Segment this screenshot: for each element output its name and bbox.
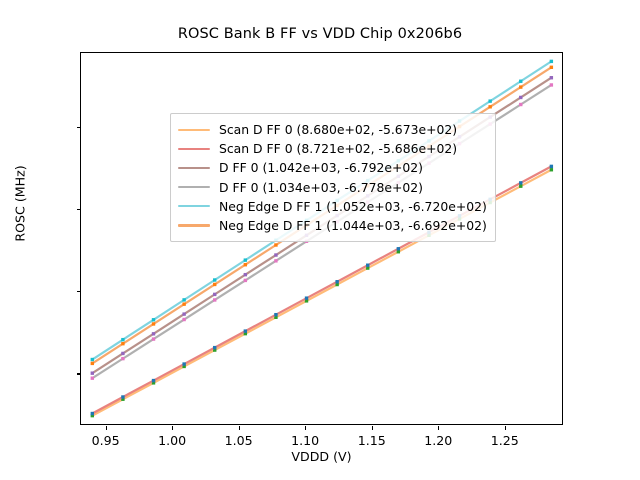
data-point-marker bbox=[182, 318, 185, 321]
x-tick-mark bbox=[172, 426, 173, 430]
data-point-marker bbox=[213, 278, 216, 281]
x-axis-label: VDDD (V) bbox=[80, 449, 563, 464]
data-point-marker bbox=[244, 279, 247, 282]
data-point-marker bbox=[397, 247, 400, 250]
x-tick-mark bbox=[438, 426, 439, 430]
x-tick-mark bbox=[305, 426, 306, 430]
data-point-marker bbox=[121, 338, 124, 341]
data-point-marker bbox=[91, 362, 94, 365]
data-point-marker bbox=[550, 168, 553, 171]
data-point-marker bbox=[550, 60, 553, 63]
data-point-marker bbox=[213, 293, 216, 296]
x-tick-label: 1.00 bbox=[137, 433, 207, 448]
data-point-marker bbox=[519, 96, 522, 99]
data-point-marker bbox=[335, 280, 338, 283]
data-point-marker bbox=[274, 313, 277, 316]
legend-color-swatch bbox=[178, 205, 210, 207]
data-point-marker bbox=[488, 99, 491, 102]
data-point-marker bbox=[213, 346, 216, 349]
data-point-marker bbox=[519, 85, 522, 88]
x-tick-label: 1.20 bbox=[403, 433, 473, 448]
y-tick-mark bbox=[77, 209, 81, 210]
data-point-marker bbox=[91, 376, 94, 379]
data-point-marker bbox=[305, 296, 308, 299]
data-point-marker bbox=[152, 337, 155, 340]
data-point-marker bbox=[519, 103, 522, 106]
legend-color-swatch bbox=[178, 167, 210, 169]
legend-item-2[interactable]: D FF 0 (1.042e+03, -6.792e+02) bbox=[178, 158, 487, 177]
legend-item-1[interactable]: Scan D FF 0 (8.721e+02, -5.686e+02) bbox=[178, 139, 487, 158]
data-point-marker bbox=[91, 371, 94, 374]
data-point-marker bbox=[121, 395, 124, 398]
legend-label: Scan D FF 0 (8.680e+02, -5.673e+02) bbox=[219, 122, 457, 137]
data-point-marker bbox=[274, 253, 277, 256]
chart-title: ROSC Bank B FF vs VDD Chip 0x206b6 bbox=[0, 26, 640, 42]
data-point-marker bbox=[213, 283, 216, 286]
legend-label: Neg Edge D FF 1 (1.052e+03, -6.720e+02) bbox=[219, 199, 487, 214]
x-tick-mark bbox=[106, 426, 107, 430]
data-point-marker bbox=[519, 181, 522, 184]
data-point-marker bbox=[152, 332, 155, 335]
data-point-marker bbox=[121, 357, 124, 360]
data-point-marker bbox=[152, 379, 155, 382]
data-point-marker bbox=[213, 298, 216, 301]
chart-legend: Scan D FF 0 (8.680e+02, -5.673e+02)Scan … bbox=[170, 113, 496, 242]
x-tick-mark bbox=[372, 426, 373, 430]
x-tick-label: 1.05 bbox=[204, 433, 274, 448]
data-point-marker bbox=[182, 298, 185, 301]
y-tick-mark bbox=[77, 127, 81, 128]
legend-label: Neg Edge D FF 1 (1.044e+03, -6.692e+02) bbox=[219, 218, 487, 233]
data-point-marker bbox=[91, 412, 94, 415]
figure-canvas: ROSC Bank B FF vs VDD Chip 0x206b6 ROSC … bbox=[0, 0, 640, 480]
data-point-marker bbox=[274, 243, 277, 246]
data-point-marker bbox=[121, 352, 124, 355]
data-point-marker bbox=[366, 264, 369, 267]
data-point-marker bbox=[182, 362, 185, 365]
data-point-marker bbox=[550, 165, 553, 168]
x-tick-mark bbox=[505, 426, 506, 430]
data-point-marker bbox=[488, 105, 491, 108]
data-point-marker bbox=[550, 66, 553, 69]
y-tick-mark bbox=[77, 291, 81, 292]
data-point-marker bbox=[152, 322, 155, 325]
legend-color-swatch bbox=[178, 224, 210, 226]
data-point-marker bbox=[550, 83, 553, 86]
data-point-marker bbox=[152, 318, 155, 321]
x-tick-label: 1.10 bbox=[270, 433, 340, 448]
data-point-marker bbox=[91, 358, 94, 361]
y-tick-mark bbox=[77, 373, 81, 374]
data-point-marker bbox=[274, 259, 277, 262]
legend-item-3[interactable]: D FF 0 (1.034e+03, -6.778e+02) bbox=[178, 178, 487, 197]
legend-color-swatch bbox=[178, 186, 210, 188]
data-point-marker bbox=[244, 329, 247, 332]
data-point-marker bbox=[519, 80, 522, 83]
data-point-marker bbox=[550, 76, 553, 79]
data-point-marker bbox=[121, 342, 124, 345]
y-axis-label: ROSC (MHz) bbox=[13, 84, 28, 324]
data-point-marker bbox=[244, 273, 247, 276]
legend-item-5[interactable]: Neg Edge D FF 1 (1.044e+03, -6.692e+02) bbox=[178, 216, 487, 235]
legend-label: D FF 0 (1.042e+03, -6.792e+02) bbox=[219, 160, 423, 175]
data-point-marker bbox=[182, 312, 185, 315]
data-point-marker bbox=[519, 184, 522, 187]
data-point-marker bbox=[244, 258, 247, 261]
x-tick-label: 1.15 bbox=[337, 433, 407, 448]
x-tick-label: 0.95 bbox=[71, 433, 141, 448]
legend-item-0[interactable]: Scan D FF 0 (8.680e+02, -5.673e+02) bbox=[178, 120, 487, 139]
data-point-marker bbox=[244, 263, 247, 266]
plot-area: 3004005006000.951.001.051.101.151.201.25… bbox=[80, 52, 563, 425]
legend-color-swatch bbox=[178, 129, 210, 131]
legend-label: D FF 0 (1.034e+03, -6.778e+02) bbox=[219, 180, 423, 195]
legend-label: Scan D FF 0 (8.721e+02, -5.686e+02) bbox=[219, 141, 457, 156]
x-tick-label: 1.25 bbox=[470, 433, 540, 448]
data-point-marker bbox=[182, 302, 185, 305]
x-tick-mark bbox=[239, 426, 240, 430]
legend-color-swatch bbox=[178, 148, 210, 150]
legend-item-4[interactable]: Neg Edge D FF 1 (1.052e+03, -6.720e+02) bbox=[178, 197, 487, 216]
